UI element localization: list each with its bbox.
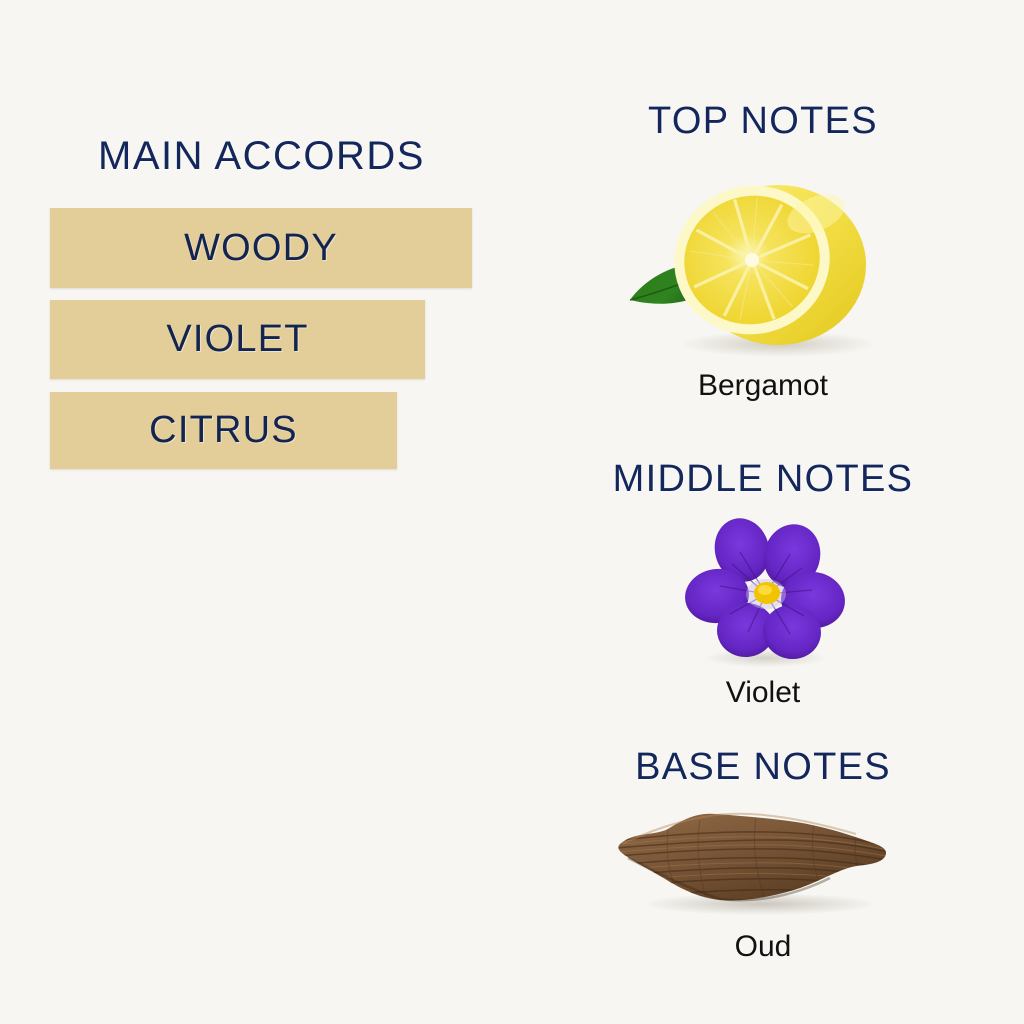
lemon-half-with-leaf-icon	[600, 168, 930, 358]
fragrance-pyramid-infographic: MAIN ACCORDS WOODY VIOLET CITRUS TOP NOT…	[0, 0, 1024, 1024]
middle-notes-caption: Violet	[553, 676, 973, 710]
accord-label-citrus: CITRUS	[149, 409, 298, 452]
accord-label-violet: VIOLET	[166, 318, 308, 361]
base-notes-caption: Oud	[553, 930, 973, 964]
top-notes-caption: Bergamot	[553, 369, 973, 403]
accord-bar-violet: VIOLET	[50, 300, 425, 379]
middle-notes-heading: MIDDLE NOTES	[553, 458, 973, 501]
violet-flower-icon	[640, 508, 890, 668]
accord-bar-citrus: CITRUS	[50, 392, 397, 469]
main-accords-title: MAIN ACCORDS	[98, 134, 425, 179]
accord-label-woody: WOODY	[184, 227, 338, 270]
accord-bar-woody: WOODY	[50, 208, 472, 288]
oud-wood-chip-icon	[608, 800, 918, 920]
top-notes-heading: TOP NOTES	[553, 100, 973, 143]
base-notes-heading: BASE NOTES	[553, 746, 973, 789]
